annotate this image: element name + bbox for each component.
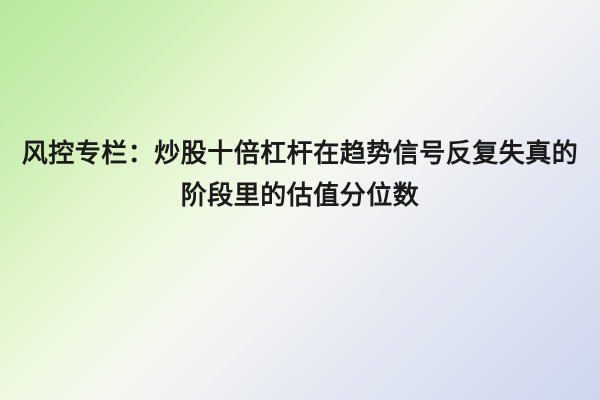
banner-title: 风控专栏：炒股十倍杠杆在趋势信号反复失真的阶段里的估值分位数	[20, 132, 580, 216]
title-container: 风控专栏：炒股十倍杠杆在趋势信号反复失真的阶段里的估值分位数	[20, 132, 580, 216]
banner-background: 风控专栏：炒股十倍杠杆在趋势信号反复失真的阶段里的估值分位数	[0, 0, 600, 400]
